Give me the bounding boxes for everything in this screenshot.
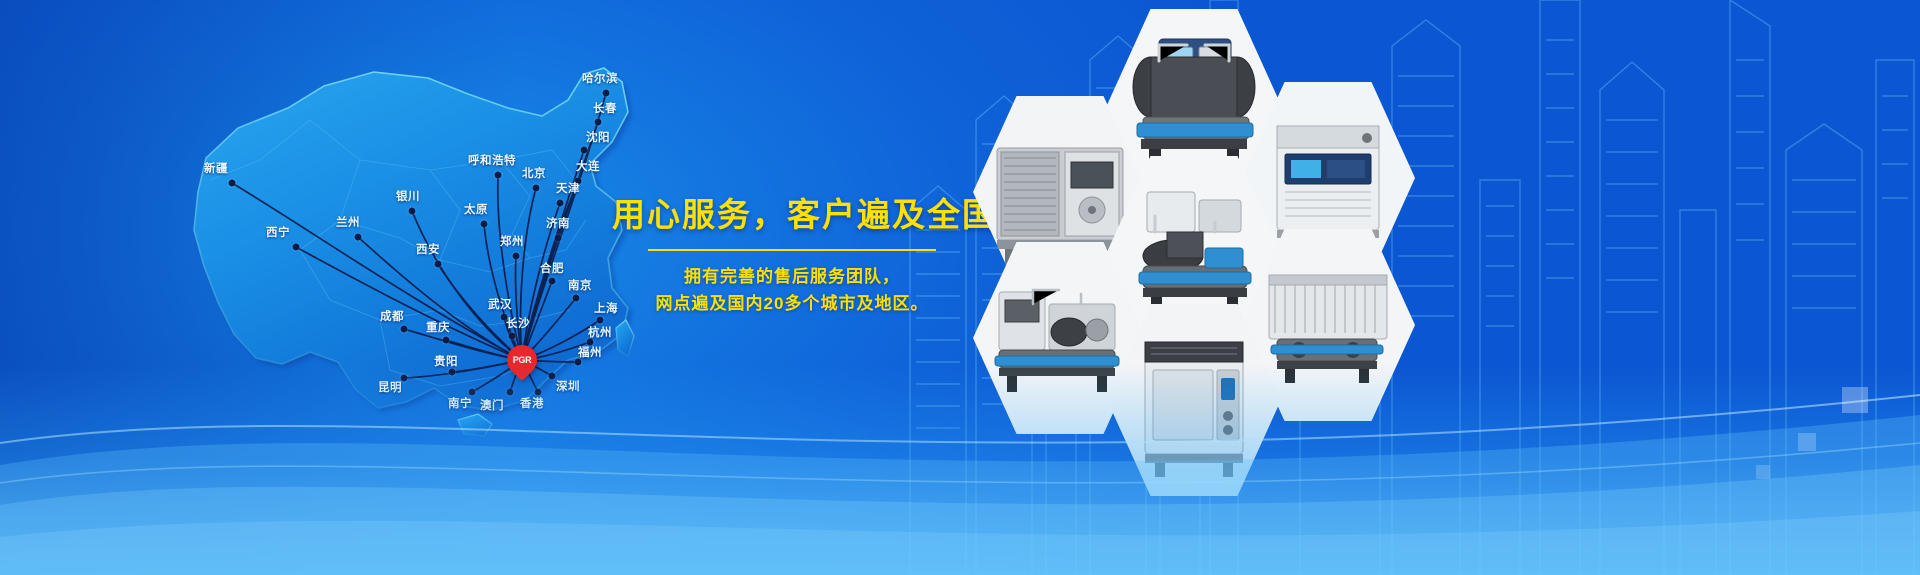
- product-hex-collage: [955, 0, 1495, 575]
- city-label: 长沙: [506, 315, 530, 331]
- city-label: 天津: [556, 180, 580, 196]
- hub-label: PGR: [507, 345, 537, 375]
- city-label: 长春: [593, 100, 617, 116]
- city-dot[interactable]: [509, 333, 516, 340]
- city-label: 澳门: [480, 397, 504, 413]
- city-label: 呼和浩特: [468, 152, 516, 168]
- decor-square-2: [1798, 433, 1816, 451]
- city-label: 香港: [520, 395, 544, 411]
- city-dot[interactable]: [549, 278, 556, 285]
- city-dot[interactable]: [409, 208, 416, 215]
- city-dot[interactable]: [443, 337, 450, 344]
- hub-marker-pgr[interactable]: PGR: [507, 345, 537, 375]
- decor-square-1: [1842, 387, 1868, 413]
- city-label: 贵阳: [434, 353, 458, 369]
- service-network-banner: 哈尔滨长春沈阳大连呼和浩特北京天津新疆银川太原兰州西宁济南郑州西安合肥南京上海武…: [0, 0, 1920, 575]
- city-dot[interactable]: [595, 119, 602, 126]
- city-dot[interactable]: [603, 90, 610, 97]
- city-label: 郑州: [500, 233, 524, 249]
- city-label: 西宁: [266, 224, 290, 240]
- city-dot[interactable]: [355, 234, 362, 241]
- city-label: 太原: [464, 201, 488, 217]
- city-label: 大连: [576, 158, 600, 174]
- city-label: 重庆: [426, 319, 450, 335]
- marketing-copy-block: 用心服务，客户遍及全国 拥有完善的售后服务团队， 网点遍及国内20多个城市及地区…: [612, 196, 972, 318]
- city-dot[interactable]: [293, 244, 300, 251]
- city-label: 南京: [568, 277, 592, 293]
- city-label: 昆明: [378, 379, 402, 395]
- city-dot[interactable]: [533, 185, 540, 192]
- city-dot[interactable]: [507, 389, 514, 396]
- headline-text: 用心服务，客户遍及全国: [612, 196, 972, 235]
- divider-rule: [648, 249, 936, 251]
- city-dot[interactable]: [573, 295, 580, 302]
- city-label: 银川: [396, 188, 420, 204]
- city-label: 北京: [522, 165, 546, 181]
- city-label: 南宁: [448, 395, 472, 411]
- city-dot[interactable]: [557, 200, 564, 207]
- city-dot[interactable]: [555, 235, 562, 242]
- city-label: 武汉: [488, 296, 512, 312]
- city-dot[interactable]: [513, 253, 520, 260]
- subline-2: 网点遍及国内20多个城市及地区。: [612, 290, 972, 318]
- city-dot[interactable]: [581, 147, 588, 154]
- city-dot[interactable]: [229, 180, 236, 187]
- city-label: 沈阳: [586, 129, 610, 145]
- decor-square-3: [1756, 465, 1770, 479]
- city-dot[interactable]: [495, 172, 502, 179]
- city-dot[interactable]: [597, 317, 604, 324]
- city-label: 西安: [416, 241, 440, 257]
- city-label: 哈尔滨: [582, 70, 618, 86]
- city-label: 福州: [578, 344, 602, 360]
- city-label: 兰州: [336, 214, 360, 230]
- city-dot[interactable]: [481, 221, 488, 228]
- city-label: 杭州: [588, 324, 612, 340]
- subline-1: 拥有完善的售后服务团队，: [612, 263, 972, 291]
- city-dot[interactable]: [401, 326, 408, 333]
- city-label: 合肥: [540, 260, 564, 276]
- city-label: 新疆: [204, 160, 228, 176]
- city-label: 济南: [546, 215, 570, 231]
- city-label: 成都: [380, 308, 404, 324]
- city-label: 深圳: [556, 378, 580, 394]
- city-dot[interactable]: [449, 369, 456, 376]
- city-dot[interactable]: [549, 373, 556, 380]
- city-dot[interactable]: [435, 261, 442, 268]
